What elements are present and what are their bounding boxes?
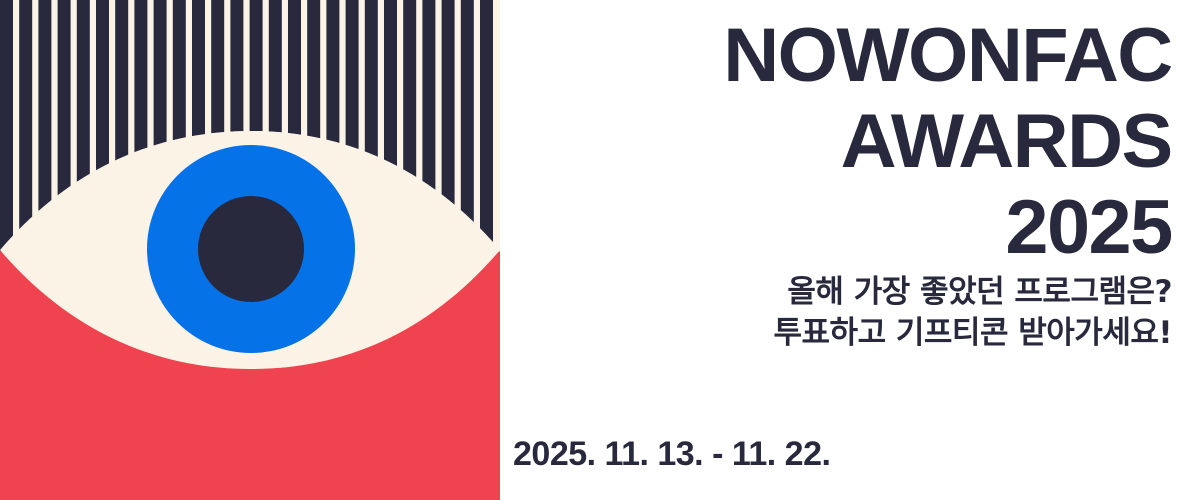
subheadline: 올해 가장 좋았던 프로그램은? 투표하고 기프티콘 받아가세요! xyxy=(774,272,1172,354)
poster-canvas: NOWONFAC AWARDS 2025 올해 가장 좋았던 프로그램은? 투표… xyxy=(0,0,1200,500)
eye-illustration xyxy=(0,0,500,500)
headline-line-3: 2025 xyxy=(723,190,1172,266)
headline-line-2: AWARDS xyxy=(723,104,1172,180)
content-panel: NOWONFAC AWARDS 2025 올해 가장 좋았던 프로그램은? 투표… xyxy=(500,0,1200,500)
subheadline-line-2: 투표하고 기프티콘 받아가세요! xyxy=(774,313,1172,354)
event-date-text: 2025. 11. 13. - 11. 22. xyxy=(513,434,830,474)
headline: NOWONFAC AWARDS 2025 xyxy=(732,18,1172,266)
subheadline-line-1: 올해 가장 좋았던 프로그램은? xyxy=(774,272,1172,313)
eye-pupil xyxy=(198,196,304,302)
headline-line-1: NOWONFAC xyxy=(723,18,1172,94)
event-date: 2025. 11. 13. - 11. 22. xyxy=(513,434,830,474)
